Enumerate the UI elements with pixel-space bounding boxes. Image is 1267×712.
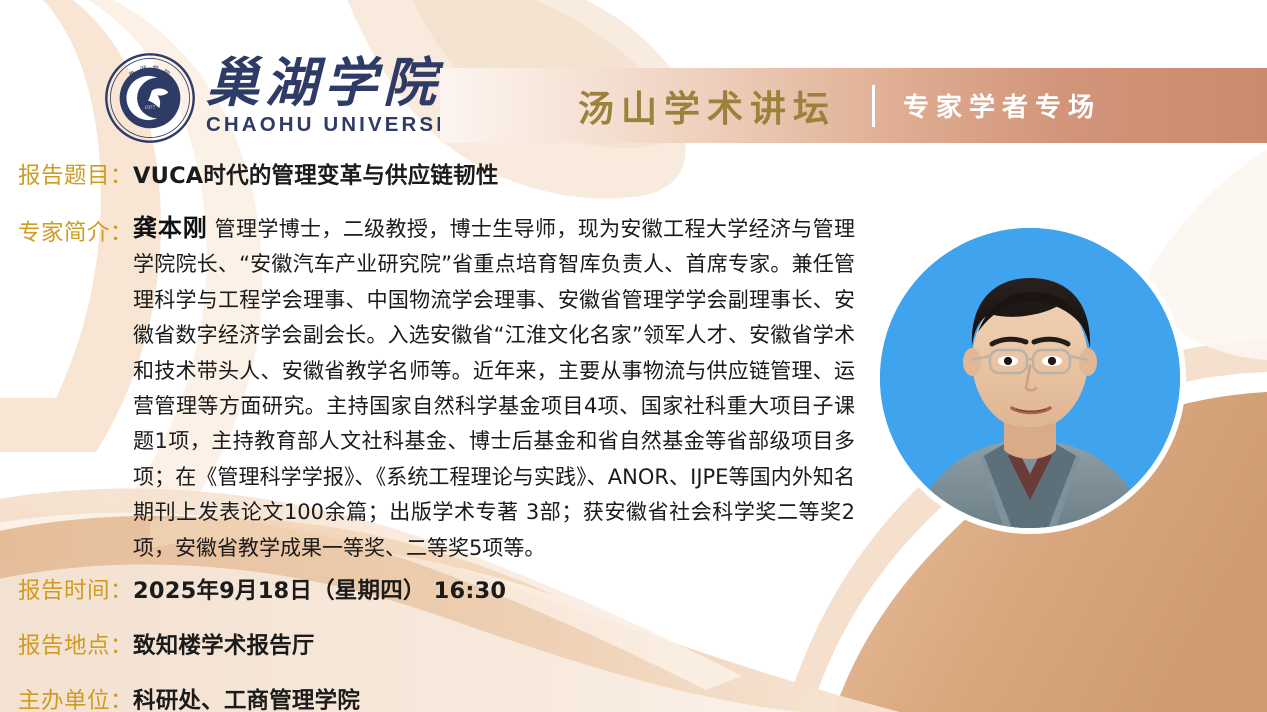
lecture-organizer-row: 主办单位： 科研处、工商管理学院 [18,683,360,712]
lecture-title-label: 报告题目： [18,158,133,190]
poster-root: 1977 巢 湖 学 院 CHAOHU UNIVERSITY 巢湖学院 CHAO… [0,0,1267,712]
lecture-organizer-label: 主办单位： [18,683,133,712]
speaker-name: 龚本刚 [133,214,208,242]
lecture-place-value: 致知楼学术报告厅 [133,628,315,660]
lecture-time-label: 报告时间： [18,573,133,605]
speaker-bio-row: 专家简介： 龚本刚 管理学博士，二级教授，博士生导师，现为安徽工程大学经济与管理… [18,211,855,566]
lecture-title-row: 报告题目： VUCA时代的管理变革与供应链韧性 [18,158,499,190]
lecture-place-label: 报告地点： [18,628,133,660]
lecture-organizer-value: 科研处、工商管理学院 [133,683,360,712]
speaker-portrait [880,228,1180,528]
speaker-bio-label: 专家简介： [18,211,133,247]
lecture-time-row: 报告时间： 2025年9月18日（星期四） 16:30 [18,573,506,605]
lecture-title-value: VUCA时代的管理变革与供应链韧性 [133,158,499,190]
speaker-bio-text: 龚本刚 管理学博士，二级教授，博士生导师，现为安徽工程大学经济与管理学院院长、“… [133,211,855,566]
speaker-portrait-photo [880,228,1180,528]
lecture-place-row: 报告地点： 致知楼学术报告厅 [18,628,315,660]
lecture-time-value: 2025年9月18日（星期四） 16:30 [133,573,506,605]
speaker-bio-paragraph: 管理学博士，二级教授，博士生导师，现为安徽工程大学经济与管理学院院长、“安徽汽车… [133,217,855,560]
